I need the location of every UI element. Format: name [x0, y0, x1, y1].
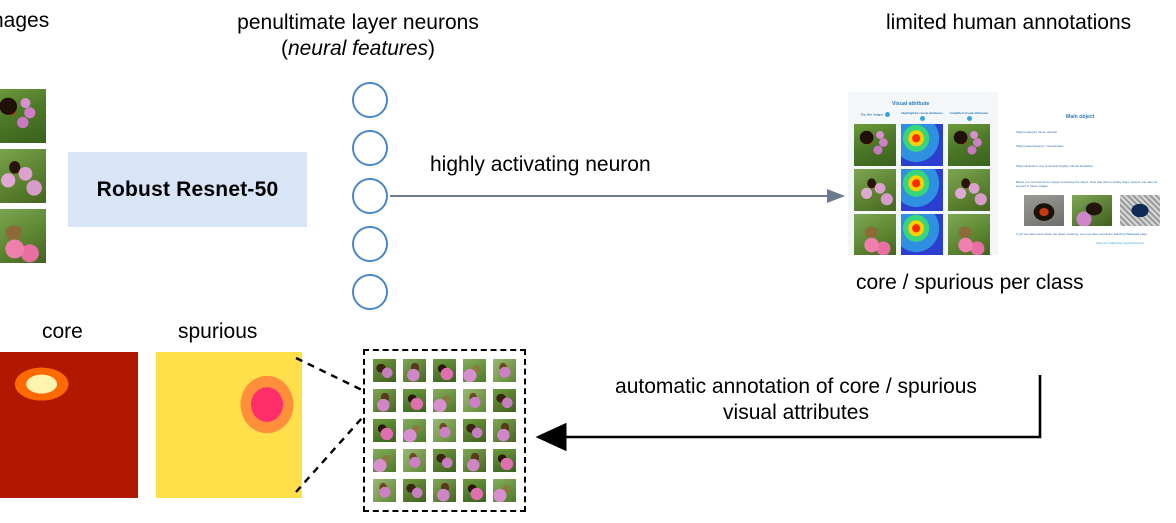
model-box: Robust Resnet-50	[68, 152, 307, 227]
grid-thumbnail	[373, 419, 396, 442]
grid-thumbnail	[493, 479, 516, 502]
neural-features-emphasis: neural features	[288, 37, 428, 60]
annotation-ui-column-header: Highlighted visual attributes	[901, 112, 943, 121]
images-label: nages	[0, 8, 49, 34]
paren-close: )	[428, 37, 435, 60]
annotation-ui-heatmap-cell	[901, 169, 943, 211]
annotation-ui-header: Visual attribute	[892, 101, 929, 107]
limited-human-annotations-label: limited human annotations	[886, 10, 1131, 36]
automatic-annotation-caption: automatic annotation of core / spurious …	[556, 374, 1036, 426]
annotation-ui-object-example	[1072, 195, 1112, 226]
retrieved-image-grid	[363, 349, 526, 512]
diagram-canvas: nages Robust Resnet-50 penultimate layer…	[0, 0, 1176, 523]
annotation-ui-image-cell	[854, 214, 896, 255]
annotation-ui-amplified-cell	[948, 124, 990, 166]
grid-thumbnail	[493, 389, 516, 412]
automatic-annotation-line2: visual attributes	[556, 400, 1036, 426]
neuron-circle-4[interactable]	[352, 226, 388, 262]
grid-thumbnail	[433, 419, 456, 442]
grid-thumbnail	[463, 389, 486, 412]
grid-thumbnail	[403, 449, 426, 472]
annotation-ui-image-cell	[854, 124, 896, 166]
annotation-ui-column-header: Amplified visual attributes	[948, 112, 990, 121]
grid-thumbnail	[463, 419, 486, 442]
spurious-to-grid-dashed-top	[296, 358, 362, 390]
grid-thumbnail	[403, 389, 426, 412]
penultimate-layer-line1: penultimate layer neurons	[213, 10, 503, 36]
neuron-circle-5[interactable]	[352, 274, 388, 310]
grid-thumbnail	[463, 449, 486, 472]
spurious-label: spurious	[178, 319, 257, 345]
annotation-ui-object-example	[1024, 195, 1064, 226]
grid-thumbnail	[463, 479, 486, 502]
input-image-thumbnail	[0, 89, 46, 143]
column-header-text: Top five images	[860, 112, 883, 116]
automatic-annotation-line1: automatic annotation of core / spurious	[556, 374, 1036, 400]
annotation-ui-amplified-cell	[948, 214, 990, 255]
highly-activating-neuron-label: highly activating neuron	[430, 152, 651, 178]
column-header-text: Amplified visual attributes	[950, 111, 989, 115]
penultimate-layer-line2: (neural features)	[213, 36, 503, 62]
grid-thumbnail	[403, 479, 426, 502]
grid-thumbnail	[493, 419, 516, 442]
grid-thumbnail	[403, 359, 426, 382]
annotation-ui-wiki-link[interactable]: https://en.wikipedia.org/wiki/Admiral	[1096, 241, 1144, 245]
grid-thumbnail	[433, 359, 456, 382]
neuron-circle-3[interactable]	[352, 178, 388, 214]
spurious-heatmap-image	[156, 352, 302, 498]
grid-thumbnail	[433, 389, 456, 412]
annotation-ui-detail-line: Object definition: any of several bright…	[1016, 164, 1093, 168]
grid-thumbnail	[463, 359, 486, 382]
core-spurious-per-class-label: core / spurious per class	[856, 270, 1084, 296]
annotation-ui-heatmap-cell	[901, 124, 943, 166]
annotation-ui-amplified-cell	[948, 169, 990, 211]
model-box-label: Robust Resnet-50	[97, 178, 279, 202]
input-image-thumbnail	[0, 209, 46, 263]
grid-thumbnail	[433, 449, 456, 472]
input-image-thumbnail	[0, 149, 46, 203]
grid-thumbnail	[403, 419, 426, 442]
grid-thumbnail	[373, 389, 396, 412]
grid-thumbnail	[373, 359, 396, 382]
grid-thumbnail	[373, 449, 396, 472]
annotation-ui-main-object-title: Main object	[1066, 114, 1095, 120]
penultimate-layer-caption: penultimate layer neurons (neural featur…	[213, 10, 503, 62]
annotation-interface-screenshot[interactable]: Visual attribute Top five images Highlig…	[848, 92, 1176, 255]
neuron-circle-1[interactable]	[352, 82, 388, 118]
core-label: core	[42, 319, 83, 345]
grid-thumbnail	[433, 479, 456, 502]
grid-thumbnail	[373, 479, 396, 502]
spurious-to-grid-dashed-bottom	[296, 418, 362, 492]
annotation-ui-detail-line: If you are still unsure about the object…	[1016, 232, 1168, 236]
grid-thumbnail	[493, 449, 516, 472]
info-icon[interactable]	[885, 112, 890, 117]
paren-open: (	[281, 37, 288, 60]
annotation-ui-heatmap-cell	[901, 214, 943, 255]
annotation-ui-detail-line: Object category name: admiral	[1016, 130, 1057, 134]
neuron-circle-2[interactable]	[352, 130, 388, 166]
info-icon[interactable]	[920, 116, 925, 121]
annotation-ui-column-header: Top five images	[854, 112, 896, 117]
column-header-text: Highlighted visual attributes	[901, 111, 943, 115]
info-icon[interactable]	[967, 116, 972, 121]
grid-thumbnail	[493, 359, 516, 382]
annotation-ui-object-example	[1120, 195, 1160, 226]
annotation-ui-image-cell	[854, 169, 896, 211]
core-heatmap-image	[0, 352, 138, 498]
annotation-ui-detail-line: Below you can find some images containin…	[1016, 180, 1168, 189]
annotation-ui-detail-line: Object supercategory: invertebrates	[1016, 144, 1064, 148]
